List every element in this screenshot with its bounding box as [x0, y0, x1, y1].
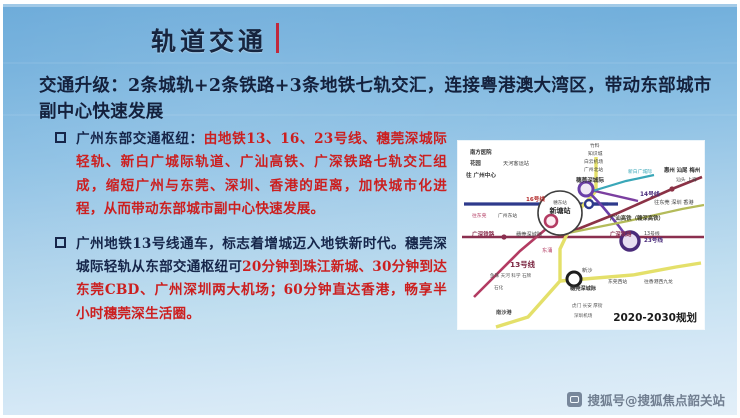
square-bullet-icon — [55, 237, 66, 248]
map-line-label: 13号线 — [510, 261, 535, 268]
hub-station-name: 新塘站 — [550, 207, 571, 215]
page-title: 轨道交通 — [151, 29, 267, 54]
background-band — [3, 4, 737, 7]
map-label: 惠州 汕尾 梅州 — [664, 169, 700, 174]
transit-map-graphic: 穗东站 新塘站 南方医院 花园 天河客运站 往 广州中心 16号线 竹料 知识城… — [458, 141, 704, 329]
bullet-text: 广州地铁13号线通车，标志着增城迈入地铁新时代。穗莞深城际轻轨从东部交通枢纽可2… — [76, 233, 447, 327]
watermark: 搜狐号@搜狐焦点韶关站 — [567, 390, 725, 409]
map-label: 广州北站 — [584, 169, 603, 174]
map-line-label: 穗莞深城际 — [570, 287, 596, 292]
map-label: 汕头 上海 — [676, 179, 697, 184]
map-label: 深圳机场 — [574, 315, 592, 320]
slide-canvas: 轨道交通 交通升级：2条城轨+2条铁路+3条地铁七轨交汇，连接粤港澳大湾区，带动… — [0, 0, 740, 418]
map-line-label: 广汕高铁（赣深高铁） — [610, 217, 664, 222]
map-label: 穗莞深城际 — [516, 233, 542, 238]
map-label: 虎门 长安 厚街 — [572, 305, 602, 310]
map-caption: 2020-2030规划 — [613, 310, 697, 325]
list-item: 广州地铁13号线通车，标志着增城迈入地铁新时代。穗莞深城际轻轨从东部交通枢纽可2… — [55, 233, 447, 327]
watermark-text: 搜狐号@搜狐焦点韶关站 — [587, 390, 725, 409]
transit-map-image: 穗东站 新塘站 南方医院 花园 天河客运站 往 广州中心 16号线 竹料 知识城… — [458, 141, 704, 329]
map-label: 天河客运站 — [503, 162, 529, 167]
slide-title-row: 轨道交通 — [151, 23, 279, 54]
map-label: 东莞西站 — [608, 281, 627, 286]
square-bullet-icon — [55, 132, 66, 143]
map-label: 竹料 — [590, 145, 600, 150]
map-label: 白云机场 — [584, 161, 603, 166]
map-line-label: 23号线 — [644, 239, 663, 245]
map-label: 石化 — [494, 287, 503, 292]
bullet-list: 广州东部交通枢纽：由地铁13、16、23号线、穗莞深城际轻轨、新白广城际轨道、广… — [55, 128, 447, 337]
map-label: 南沙港 — [496, 311, 512, 316]
map-label: 往东莞 深圳 香港 — [654, 201, 694, 206]
map-label: 往 广州中心 — [466, 174, 496, 180]
map-label: 往香港西九龙 — [644, 281, 673, 286]
background-band — [3, 62, 737, 64]
map-label: 鱼珠 天河 科学 石牌 — [490, 275, 531, 280]
map-line-label: 新白广城际 — [628, 171, 652, 176]
map-label: 知识城 — [588, 153, 602, 158]
title-accent-bar — [276, 23, 279, 53]
list-item: 广州东部交通枢纽：由地铁13、16、23号线、穗莞深城际轻轨、新白广城际轨道、广… — [55, 128, 447, 222]
map-label: 往东莞 — [472, 215, 486, 220]
map-label: 新沙 — [582, 269, 592, 274]
map-line-label: 广深铁路 — [472, 233, 494, 239]
map-line-label: 14号线 — [640, 193, 660, 199]
map-label: 13号线 — [644, 233, 660, 238]
headline-text: 交通升级：2条城轨+2条铁路+3条地铁七轨交汇，连接粤港澳大湾区，带动东部城市副… — [39, 74, 719, 126]
map-label: 东涌 — [542, 249, 552, 254]
map-line-label: 穗莞深城际 — [576, 179, 604, 185]
bullet-lead: 广州东部交通枢纽： — [76, 131, 204, 147]
map-line-label: 16号线 — [526, 198, 545, 204]
sohu-logo-icon — [567, 392, 582, 407]
map-line-label: 广深铁路 — [610, 233, 632, 238]
map-label: 南方医院 — [470, 151, 492, 156]
map-label: 花园 — [470, 162, 481, 167]
map-label: 广州东站 — [498, 215, 517, 220]
bullet-text: 广州东部交通枢纽：由地铁13、16、23号线、穗莞深城际轻轨、新白广城际轨道、广… — [76, 128, 447, 222]
